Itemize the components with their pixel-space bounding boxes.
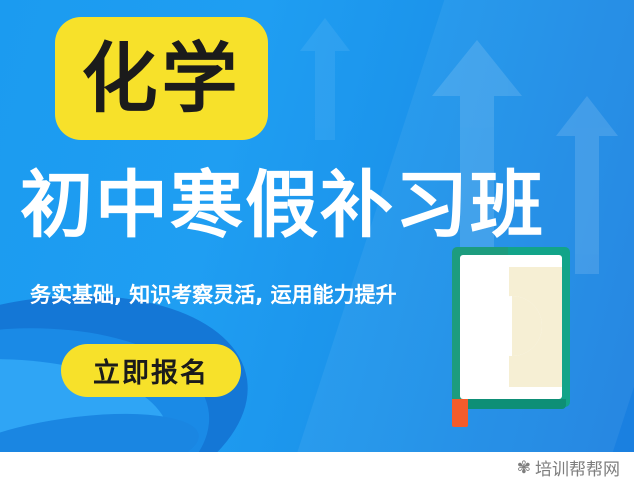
site-watermark: ✾ 培训帮帮网 xyxy=(517,455,620,480)
poster-subheadline: 务实基础, 知识考察灵活, 运用能力提升 xyxy=(30,279,397,309)
arrow-head xyxy=(556,96,618,136)
book-illustration xyxy=(452,247,570,422)
arrow-head xyxy=(432,40,522,96)
promo-poster: 化学 初中寒假补习班 务实基础, 知识考察灵活, 运用能力提升 立即报名 ✾ 培… xyxy=(0,0,634,486)
poster-headline: 初中寒假补习班 xyxy=(20,168,614,245)
book-base xyxy=(458,399,566,409)
subject-badge-label: 化学 xyxy=(82,41,242,117)
book-bookmark xyxy=(452,399,468,427)
enroll-now-label: 立即报名 xyxy=(93,351,209,390)
enroll-now-button[interactable]: 立即报名 xyxy=(61,344,241,397)
up-arrow-icon-3 xyxy=(300,18,350,138)
flower-icon: ✾ xyxy=(517,459,531,476)
arrow-shaft xyxy=(315,48,335,140)
arrow-head xyxy=(300,18,350,51)
subject-badge: 化学 xyxy=(55,17,268,140)
poster-footer: ✾ 培训帮帮网 xyxy=(0,452,634,486)
poster-background: 化学 初中寒假补习班 务实基础, 知识考察灵活, 运用能力提升 立即报名 xyxy=(0,0,634,452)
watermark-label: 培训帮帮网 xyxy=(535,455,620,480)
